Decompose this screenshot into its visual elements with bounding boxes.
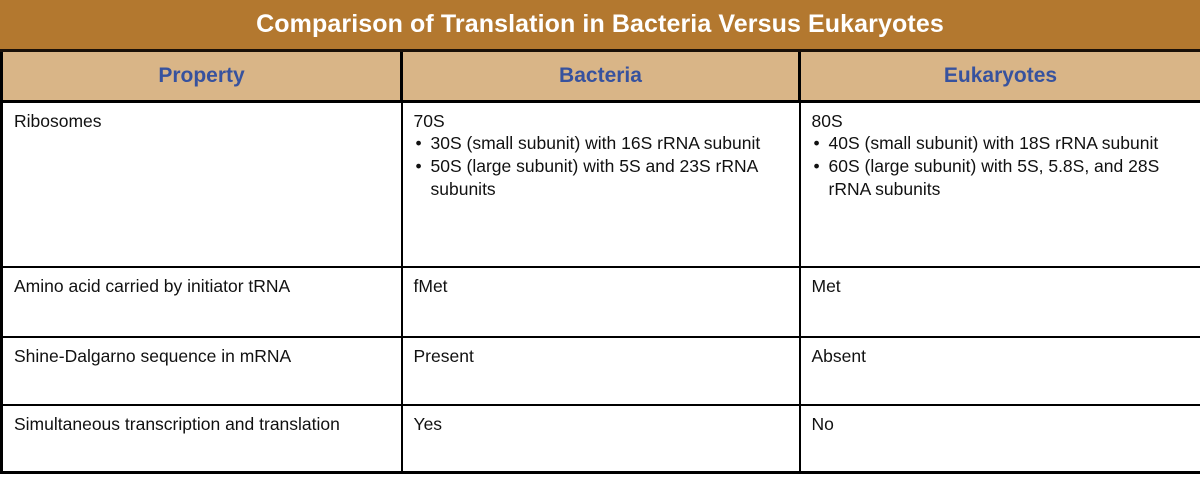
- table-row: Ribosomes 70S 30S (small subunit) with 1…: [2, 101, 1200, 267]
- table-row: Simultaneous transcription and translati…: [2, 405, 1200, 472]
- eukaryotes-value: Absent: [812, 345, 1190, 368]
- cell-bacteria: Yes: [402, 405, 800, 472]
- eukaryotes-value: No: [812, 413, 1190, 436]
- cell-property: Simultaneous transcription and translati…: [2, 405, 402, 472]
- cell-eukaryotes: 80S 40S (small subunit) with 18S rRNA su…: [800, 101, 1200, 267]
- property-label: Simultaneous transcription and translati…: [14, 413, 390, 436]
- property-label: Amino acid carried by initiator tRNA: [14, 275, 390, 298]
- bacteria-value: Present: [414, 345, 788, 368]
- column-header-eukaryotes: Eukaryotes: [800, 52, 1200, 101]
- cell-property: Shine-Dalgarno sequence in mRNA: [2, 337, 402, 405]
- cell-property: Ribosomes: [2, 101, 402, 267]
- list-item: 50S (large subunit) with 5S and 23S rRNA…: [414, 155, 788, 201]
- comparison-table: Property Bacteria Eukaryotes Ribosomes 7…: [0, 52, 1200, 474]
- cell-eukaryotes: Absent: [800, 337, 1200, 405]
- comparison-table-figure: Comparison of Translation in Bacteria Ve…: [0, 0, 1200, 480]
- cell-bacteria: 70S 30S (small subunit) with 16S rRNA su…: [402, 101, 800, 267]
- cell-bacteria: fMet: [402, 267, 800, 337]
- bacteria-value: fMet: [414, 275, 788, 298]
- list-item: 30S (small subunit) with 16S rRNA subuni…: [414, 132, 788, 155]
- table-title: Comparison of Translation in Bacteria Ve…: [256, 12, 944, 37]
- bacteria-value: 70S: [414, 110, 788, 133]
- list-item: 40S (small subunit) with 18S rRNA subuni…: [812, 132, 1190, 155]
- property-label: Ribosomes: [14, 110, 390, 133]
- property-label: Shine-Dalgarno sequence in mRNA: [14, 345, 390, 368]
- table-header: Property Bacteria Eukaryotes: [2, 52, 1200, 101]
- table-row: Shine-Dalgarno sequence in mRNA Present …: [2, 337, 1200, 405]
- cell-eukaryotes: Met: [800, 267, 1200, 337]
- table-body: Ribosomes 70S 30S (small subunit) with 1…: [2, 101, 1200, 472]
- column-header-property: Property: [2, 52, 402, 101]
- bacteria-bullet-list: 30S (small subunit) with 16S rRNA subuni…: [414, 132, 788, 200]
- column-header-bacteria: Bacteria: [402, 52, 800, 101]
- cell-eukaryotes: No: [800, 405, 1200, 472]
- eukaryotes-bullet-list: 40S (small subunit) with 18S rRNA subuni…: [812, 132, 1190, 200]
- eukaryotes-value: 80S: [812, 110, 1190, 133]
- list-item: 60S (large subunit) with 5S, 5.8S, and 2…: [812, 155, 1190, 201]
- table-header-row: Property Bacteria Eukaryotes: [2, 52, 1200, 101]
- table-title-bar: Comparison of Translation in Bacteria Ve…: [0, 0, 1200, 52]
- table-row: Amino acid carried by initiator tRNA fMe…: [2, 267, 1200, 337]
- bacteria-value: Yes: [414, 413, 788, 436]
- eukaryotes-value: Met: [812, 275, 1190, 298]
- cell-bacteria: Present: [402, 337, 800, 405]
- cell-property: Amino acid carried by initiator tRNA: [2, 267, 402, 337]
